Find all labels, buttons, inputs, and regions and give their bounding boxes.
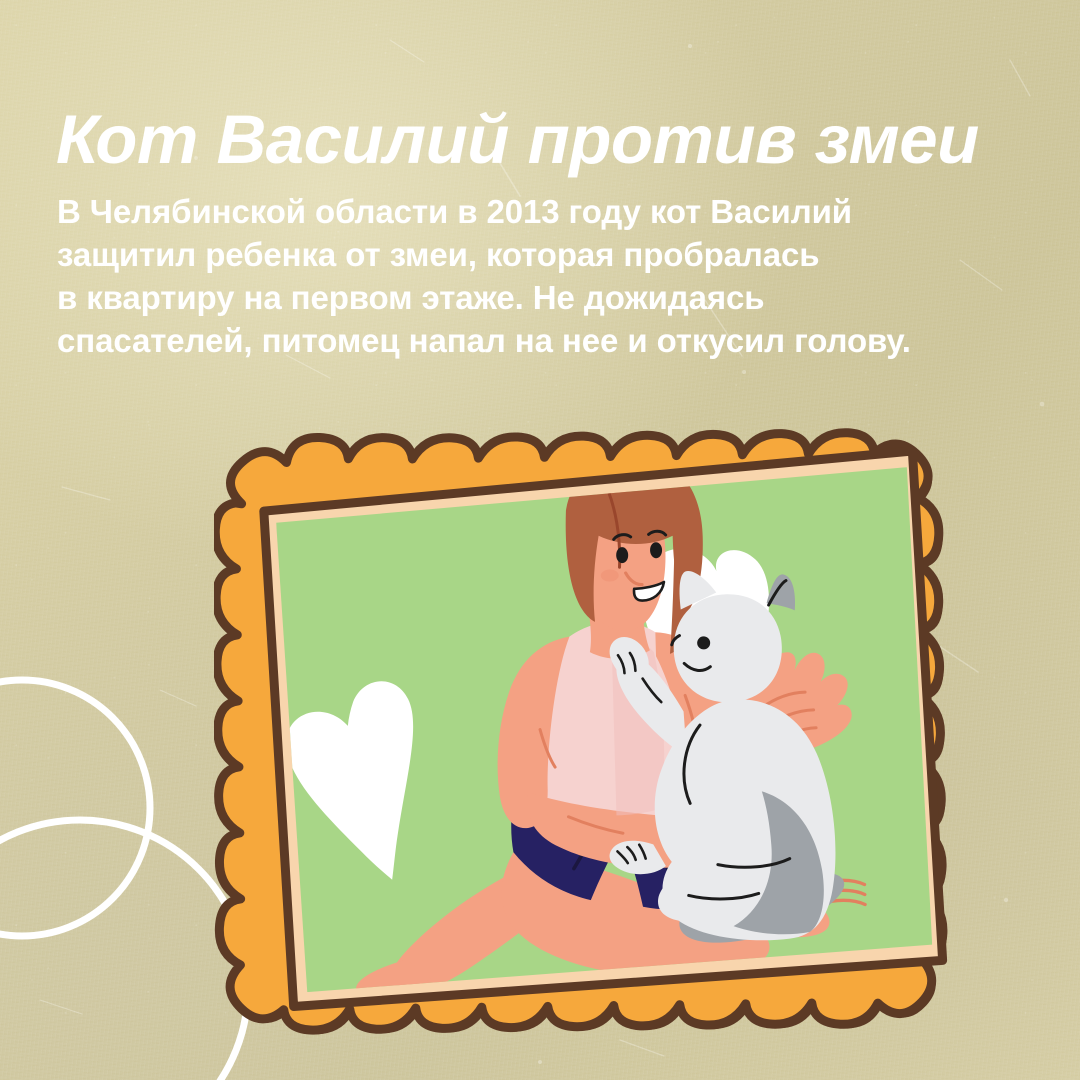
canvas-scene	[267, 447, 952, 1006]
body-paragraph: В Челябинской области в 2013 году кот Ва…	[57, 190, 1017, 362]
body-line-3: в квартиру на первом этаже. Не дожидаясь	[57, 276, 1017, 319]
body-line-4: спасателей, питомец напал на нее и откус…	[57, 319, 1017, 362]
poster-canvas: Кот Василий против змеи В Челябинской об…	[0, 0, 1080, 1080]
framed-illustration	[214, 398, 974, 1058]
frame-group	[214, 420, 956, 1045]
body-line-2: защитил ребенка от змеи, которая пробрал…	[57, 233, 1017, 276]
illustration-svg	[214, 398, 974, 1058]
body-line-1: В Челябинской области в 2013 году кот Ва…	[57, 190, 1017, 233]
page-title: Кот Василий против змеи	[56, 104, 1036, 176]
